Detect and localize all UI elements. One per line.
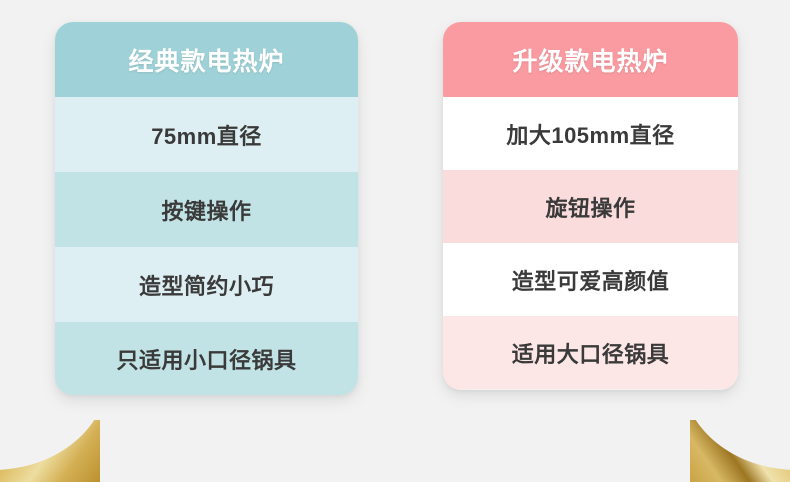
gold-corner-right-decoration: [690, 420, 790, 482]
gold-gradient-fill-left: [0, 420, 100, 482]
feature-row-classic-diameter: 75mm直径: [55, 97, 358, 172]
feature-row-upgraded-cookware: 适用大口径锅具: [443, 316, 738, 389]
comparison-page: 经典款电热炉 75mm直径 按键操作 造型简约小巧 只适用小口径锅具 升级款电热…: [0, 0, 790, 482]
card-header-upgraded: 升级款电热炉: [443, 22, 738, 97]
feature-row-classic-design: 造型简约小巧: [55, 247, 358, 322]
feature-row-upgraded-diameter: 加大105mm直径: [443, 97, 738, 170]
gold-corner-left-decoration: [0, 420, 100, 482]
feature-row-upgraded-design: 造型可爱高颜值: [443, 243, 738, 316]
gold-corner-left-mask: [0, 420, 100, 470]
product-card-classic: 经典款电热炉 75mm直径 按键操作 造型简约小巧 只适用小口径锅具: [55, 22, 358, 395]
gold-gradient-fill-right: [690, 420, 790, 482]
feature-row-upgraded-control: 旋钮操作: [443, 170, 738, 243]
feature-row-classic-cookware: 只适用小口径锅具: [55, 322, 358, 395]
card-header-classic: 经典款电热炉: [55, 22, 358, 97]
gold-corner-right-mask: [690, 420, 790, 470]
product-card-upgraded: 升级款电热炉 加大105mm直径 旋钮操作 造型可爱高颜值 适用大口径锅具: [443, 22, 738, 390]
feature-row-classic-control: 按键操作: [55, 172, 358, 247]
